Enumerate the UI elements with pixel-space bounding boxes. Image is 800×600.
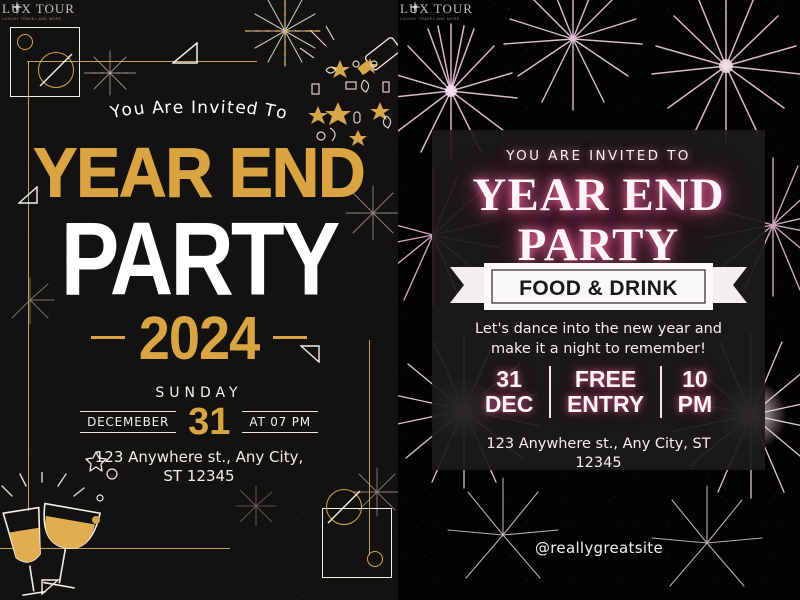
left-invited-label: YouAreInvitedTo	[0, 98, 398, 118]
right-social-handle: @reallygreatsite	[398, 539, 800, 557]
left-weekday: SUNDAY	[0, 385, 398, 401]
left-year-row: 2024	[0, 305, 398, 370]
dash-right	[273, 336, 307, 339]
left-poster: YouAreInvitedTo YEAR END PARTY 2024 SUND…	[0, 0, 398, 600]
right-tagline: Let's dance into the new year and make i…	[432, 320, 765, 359]
left-month: DECEMEBER	[80, 411, 176, 433]
left-address: 123 Anywhere st., Any City, ST 12345	[0, 448, 398, 486]
left-day: 31	[186, 403, 232, 441]
entry-fact: FREE ENTRY	[551, 367, 660, 417]
right-address: 123 Anywhere st., Any City, ST 12345	[432, 435, 765, 473]
right-ribbon-label: FOOD & DRINK	[432, 277, 765, 301]
right-poster-panel: YOU ARE INVITED TO YEAR END PARTY FOOD &…	[432, 130, 765, 470]
star-outline-icon	[85, 450, 107, 472]
right-invited-label: YOU ARE INVITED TO	[432, 148, 765, 164]
dash-left	[91, 336, 125, 339]
left-year: 2024	[139, 302, 260, 374]
poster-pair-canvas: YouAreInvitedTo YEAR END PARTY 2024 SUND…	[0, 0, 800, 600]
date-fact: 31 DEC	[469, 367, 550, 417]
right-facts-row: 31 DEC FREE ENTRY 10 PM	[432, 366, 765, 418]
time-fact: 10 PM	[662, 367, 729, 417]
right-poster: YOU ARE INVITED TO YEAR END PARTY FOOD &…	[398, 0, 800, 600]
left-poster-content: YouAreInvitedTo YEAR END PARTY 2024 SUND…	[0, 0, 398, 600]
right-title-line1: YEAR END	[432, 168, 765, 222]
left-time: AT 07 PM	[242, 411, 318, 433]
left-date-row: DECEMEBER 31 AT 07 PM	[0, 403, 398, 441]
